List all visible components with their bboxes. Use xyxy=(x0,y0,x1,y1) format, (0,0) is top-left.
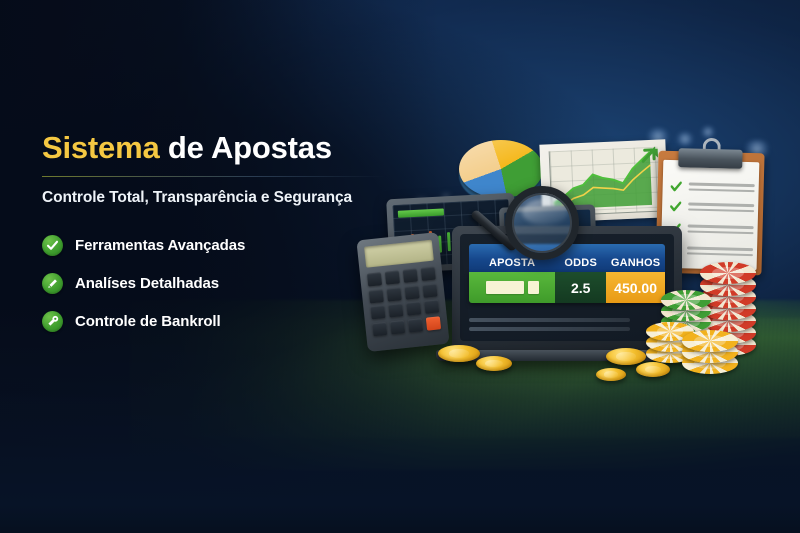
gold-coin xyxy=(636,362,670,377)
clipboard-text-lines xyxy=(688,199,754,212)
stake-bar-segment xyxy=(486,281,524,294)
feature-list: Ferramentas Avançadas Analíses Detalhada… xyxy=(42,235,394,332)
calculator-key xyxy=(420,267,436,281)
magnifier-icon xyxy=(505,186,579,260)
poker-chip xyxy=(700,262,756,284)
calculator-key xyxy=(408,318,424,332)
copy-block: Sistema de Apostas Controle Total, Trans… xyxy=(42,132,394,332)
gold-coin xyxy=(596,368,626,381)
bet-table-row: 2.5 450.00 xyxy=(469,272,665,303)
calculator-key-plus xyxy=(425,316,441,330)
calculator-key xyxy=(406,301,422,315)
bet-table-header-ganhos: GANHOS xyxy=(606,244,665,272)
bet-table-cell-ganhos: 450.00 xyxy=(606,272,665,303)
feature-item-label: Ferramentas Avançadas xyxy=(75,237,245,254)
banner-root: APOSTA ODDS GANHOS 2.5 450.00 xyxy=(0,0,800,533)
title-divider xyxy=(42,176,387,177)
feature-item-label: Controle de Bankroll xyxy=(75,313,221,330)
page-title-highlight: Sistema xyxy=(42,130,160,165)
clipboard-text-lines xyxy=(689,179,755,192)
bet-table-cell-odds: 2.5 xyxy=(555,272,606,303)
stake-bar-segment xyxy=(528,281,539,294)
clipboard-text-lines xyxy=(687,243,753,256)
wrench-icon xyxy=(42,311,63,332)
gold-coin xyxy=(476,356,512,371)
calculator-key xyxy=(424,299,440,313)
feature-item-ferramentas: Ferramentas Avançadas xyxy=(42,235,394,256)
bet-table-placeholder-lines xyxy=(469,318,630,331)
poker-chip xyxy=(682,330,738,352)
feature-item-analises: Analíses Detalhadas xyxy=(42,273,394,294)
calculator-key xyxy=(404,285,420,299)
clipboard-row xyxy=(670,179,754,199)
check-icon xyxy=(670,199,681,217)
check-icon xyxy=(670,179,681,197)
candlestick xyxy=(447,232,451,251)
page-title: Sistema de Apostas xyxy=(42,132,394,165)
page-title-rest: de Apostas xyxy=(160,130,332,165)
clipboard-row xyxy=(670,199,754,219)
feature-item-label: Analíses Detalhadas xyxy=(75,275,219,292)
poker-chip xyxy=(661,290,711,310)
clipboard-text-lines xyxy=(687,221,753,234)
magnifier-ring xyxy=(505,186,579,260)
gold-coin xyxy=(606,348,646,365)
calculator-key xyxy=(402,268,418,282)
pencil-icon xyxy=(42,273,63,294)
tablet-highlight-bar xyxy=(398,208,444,217)
check-icon xyxy=(42,235,63,256)
page-subtitle: Controle Total, Transparência e Seguranç… xyxy=(42,189,394,207)
calculator-key xyxy=(422,283,438,297)
feature-item-bankroll: Controle de Bankroll xyxy=(42,311,394,332)
gold-coin xyxy=(438,345,480,362)
clipboard-clamp xyxy=(678,148,742,169)
bet-table-cell-aposta xyxy=(469,272,555,303)
